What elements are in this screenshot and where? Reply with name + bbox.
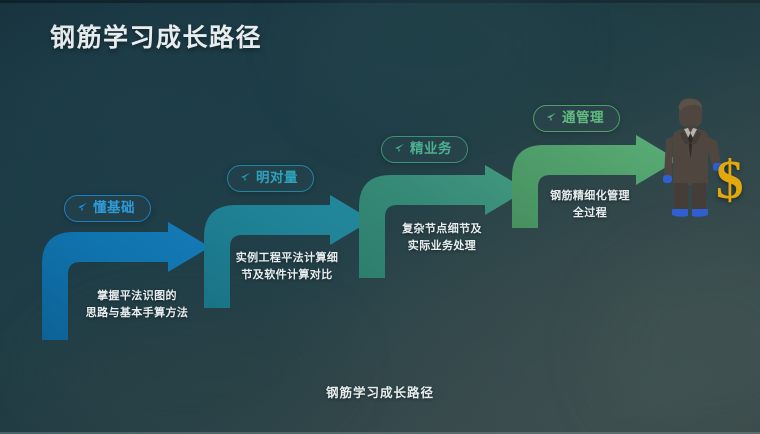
step-3-badge-label: 精业务 [410,142,452,156]
step-1-badge[interactable]: 懂基础 [64,195,151,222]
step-3-caption-line-1: 复杂节点细节及 [382,221,502,238]
background-blob [600,250,760,434]
step-2-badge[interactable]: 明对量 [227,165,314,192]
step-2-caption-line-1: 实例工程平法计算细 [222,250,352,267]
step-3-caption: 复杂节点细节及 实际业务处理 [382,221,502,255]
step-1-caption: 掌握平法识图的 思路与基本手算方法 [72,288,202,322]
step-4-caption-line-1: 钢筋精细化管理 [530,188,650,205]
slide-canvas: 钢筋学习成长路径 懂基础 掌握平法识图的 思 [0,0,760,434]
step-3-badge[interactable]: 精业务 [381,136,468,163]
step-2-badge-label: 明对量 [256,171,298,185]
top-edge-line [0,0,760,3]
step-1-badge-label: 懂基础 [93,201,135,215]
step-1-caption-line-2: 思路与基本手算方法 [72,305,202,322]
step-2-caption: 实例工程平法计算细 节及软件计算对比 [222,250,352,284]
paper-plane-icon [240,172,251,183]
footer-caption: 钢筋学习成长路径 [0,382,760,401]
background-blob [300,0,560,130]
page-title: 钢筋学习成长路径 [50,18,262,54]
step-4-caption-line-2: 全过程 [530,205,650,222]
step-1-caption-line-1: 掌握平法识图的 [72,288,202,305]
dollar-sign: $ [716,152,744,207]
step-1-arrow [38,222,213,342]
step-4-badge-label: 通管理 [562,111,604,125]
step-2-caption-line-2: 节及软件计算对比 [222,267,352,284]
paper-plane-icon [546,112,557,123]
step-4-badge[interactable]: 通管理 [533,105,620,132]
paper-plane-icon [77,202,88,213]
step-4-caption: 钢筋精细化管理 全过程 [530,188,650,222]
paper-plane-icon [394,143,405,154]
step-3-caption-line-2: 实际业务处理 [382,238,502,255]
